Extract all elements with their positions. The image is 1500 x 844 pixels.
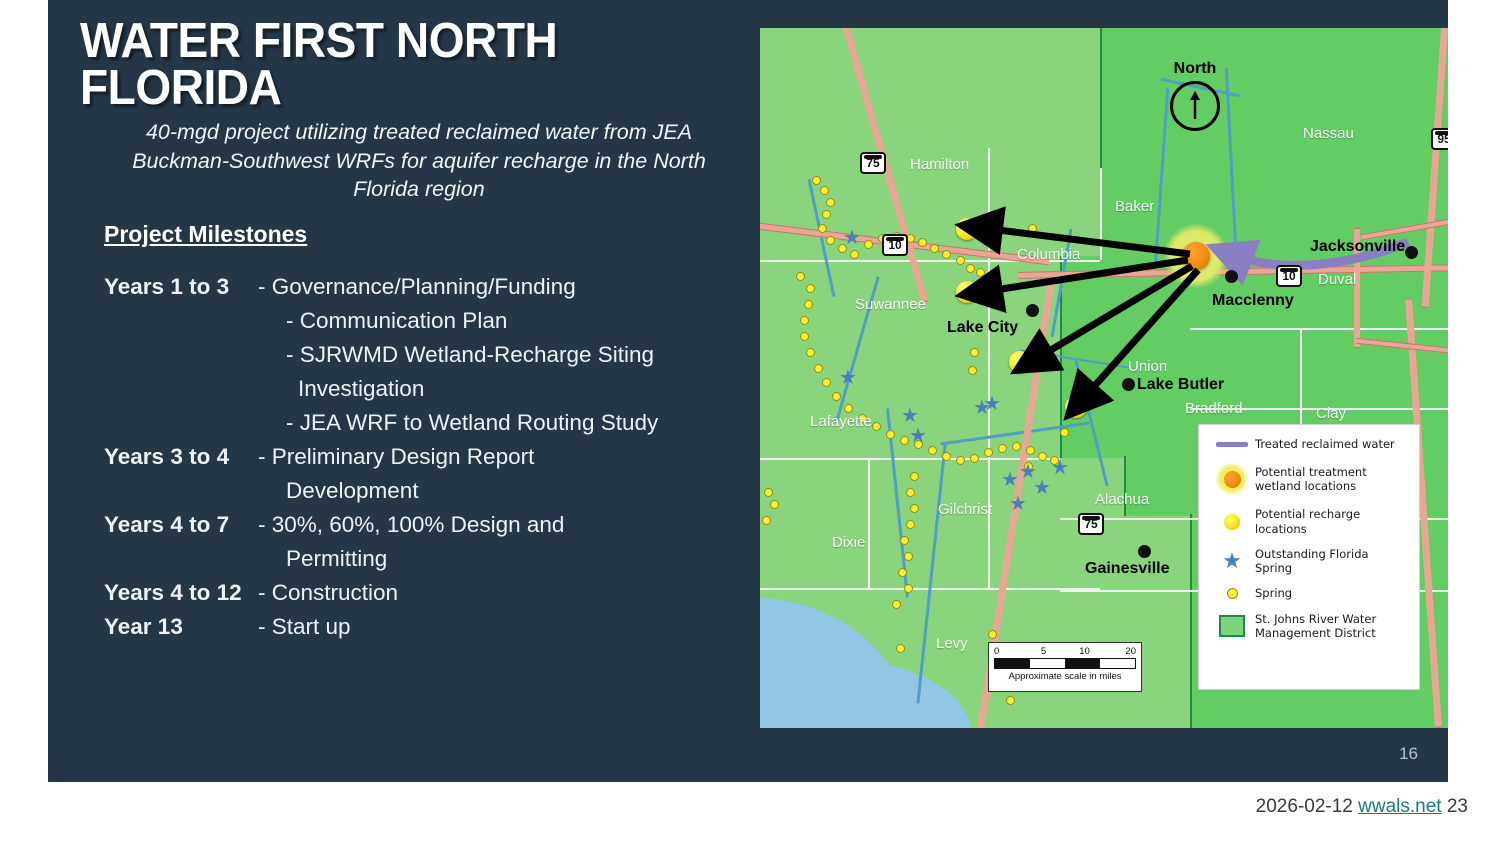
scale-tick: 0: [994, 646, 999, 657]
interstate-shield-icon: 10: [1276, 265, 1302, 287]
milestone-row: Investigation: [68, 372, 758, 406]
subtitle: 40-mgd project utilizing treated reclaim…: [120, 118, 718, 204]
county-label: Suwannee: [855, 296, 926, 313]
milestone-row: Year 13 - Start up: [68, 610, 758, 644]
city-label: Lake City: [947, 319, 1018, 337]
county-label: Lafayette: [810, 413, 872, 430]
city-dot: [1138, 545, 1151, 558]
legend-label: Potential treatment wetland locations: [1255, 465, 1409, 494]
scale-caption: Approximate scale in miles: [994, 671, 1136, 682]
map-figure: ★ ★ ★ ★ ★ ★ ★ ★ ★ ★ ★: [760, 28, 1448, 728]
county-label: Columbia: [1017, 246, 1080, 263]
county-label: Nassau: [1303, 125, 1354, 142]
footer-link[interactable]: wwals.net: [1358, 796, 1441, 817]
milestones-heading: Project Milestones: [104, 221, 307, 248]
county-label: Duval: [1318, 271, 1356, 288]
green-box-icon: [1209, 615, 1255, 637]
slide: WATER FIRST NORTH FLORIDA 40-mgd project…: [48, 0, 1448, 782]
county-label: Alachua: [1095, 491, 1149, 508]
milestone-row: Years 4 to 12 - Construction: [68, 576, 758, 610]
spring-dot-icon: [1209, 588, 1255, 599]
city-dot: [1225, 270, 1238, 283]
interstate-shield-icon: 95: [1431, 128, 1448, 150]
county-label: Hamilton: [910, 156, 969, 173]
city-label: Jacksonville: [1310, 238, 1405, 256]
milestone-years: Years 4 to 7: [68, 508, 250, 542]
map-scale-bar: 0 5 10 20 Approximate scale in miles: [988, 642, 1142, 692]
milestone-years: Year 13: [68, 610, 250, 644]
footer-page-number: 23: [1447, 796, 1468, 817]
footer: 2026-02-12 wwals.net 23: [0, 782, 1500, 844]
milestones-heading-wrap: Project Milestones: [68, 204, 758, 248]
scale-tick: 10: [1079, 646, 1090, 657]
county-label: Union: [1128, 358, 1167, 375]
legend-item-treated-reclaimed-water: Treated reclaimed water: [1209, 437, 1409, 451]
legend-item-sjrwmd: St. Johns River Water Management Distric…: [1209, 612, 1409, 641]
milestone-row: - SJRWMD Wetland-Recharge Siting: [68, 338, 758, 372]
city-label: Gainesville: [1085, 560, 1170, 578]
milestone-years: Years 3 to 4: [68, 440, 250, 474]
legend-label: Outstanding Florida Spring: [1255, 547, 1409, 576]
county-label: Baker: [1115, 198, 1154, 215]
legend-item-spring: Spring: [1209, 586, 1409, 600]
milestone-task: - Construction: [250, 576, 758, 610]
north-arrow: North: [1160, 60, 1230, 131]
legend-label: Treated reclaimed water: [1255, 437, 1395, 451]
milestone-row: - JEA WRF to Wetland Routing Study: [68, 406, 758, 440]
milestone-row: - Communication Plan: [68, 304, 758, 338]
recharge-dot-icon: [1209, 514, 1255, 530]
milestone-row: Development: [68, 474, 758, 508]
city-dot: [1122, 378, 1135, 391]
milestone-row: Years 1 to 3 - Governance/Planning/Fundi…: [68, 270, 758, 304]
scale-bar-graphic: [994, 658, 1136, 669]
footer-date: 2026-02-12: [1256, 796, 1353, 817]
blue-star-icon: ★: [1209, 550, 1255, 572]
city-dot: [1026, 304, 1039, 317]
legend-item-treatment-wetland: Potential treatment wetland locations: [1209, 462, 1409, 496]
treatment-wetland-icon: [1209, 462, 1255, 496]
legend-item-outstanding-spring: ★ Outstanding Florida Spring: [1209, 547, 1409, 576]
milestone-years: Years 1 to 3: [68, 270, 250, 304]
purple-line-icon: [1209, 442, 1255, 447]
county-label: Gilchrist: [938, 501, 992, 518]
legend-label: Spring: [1255, 586, 1292, 600]
county-label: Levy: [936, 635, 968, 652]
milestone-row: Permitting: [68, 542, 758, 576]
county-label: Clay: [1316, 405, 1346, 422]
milestones-list: Years 1 to 3 - Governance/Planning/Fundi…: [68, 270, 758, 644]
arrow-to-recharge-1: [982, 228, 1190, 254]
city-label: Macclenny: [1212, 292, 1294, 310]
milestone-task: - Governance/Planning/Funding: [250, 270, 758, 304]
north-label: North: [1160, 60, 1230, 78]
map-legend: Treated reclaimed water Potential treatm…: [1198, 424, 1420, 690]
county-label: Bradford: [1185, 400, 1243, 417]
milestone-years: Years 4 to 12: [68, 576, 250, 610]
footer-text: 2026-02-12 wwals.net 23: [1256, 796, 1468, 818]
interstate-shield-icon: 10: [882, 234, 908, 256]
interstate-shield-icon: 75: [860, 152, 886, 174]
scale-ticks: 0 5 10 20: [994, 646, 1136, 658]
city-label: Lake Butler: [1137, 376, 1224, 394]
interstate-shield-icon: 75: [1078, 513, 1104, 535]
legend-label: St. Johns River Water Management Distric…: [1255, 612, 1409, 641]
legend-label: Potential recharge locations: [1255, 507, 1409, 536]
slide-page-number: 16: [1399, 744, 1418, 764]
milestone-task: - Preliminary Design Report: [250, 440, 758, 474]
county-label: Dixie: [832, 534, 865, 551]
milestone-task: - Start up: [250, 610, 758, 644]
left-text-column: WATER FIRST NORTH FLORIDA 40-mgd project…: [68, 18, 758, 644]
milestone-row: Years 4 to 7 - 30%, 60%, 100% Design and: [68, 508, 758, 542]
page-title: WATER FIRST NORTH FLORIDA: [80, 18, 717, 112]
legend-item-recharge-locations: Potential recharge locations: [1209, 507, 1409, 536]
scale-tick: 5: [1041, 646, 1046, 657]
city-dot: [1405, 246, 1418, 259]
milestone-row: Years 3 to 4 - Preliminary Design Report: [68, 440, 758, 474]
milestone-task: - 30%, 60%, 100% Design and: [250, 508, 758, 542]
north-arrow-icon: [1170, 81, 1220, 131]
scale-tick: 20: [1125, 646, 1136, 657]
